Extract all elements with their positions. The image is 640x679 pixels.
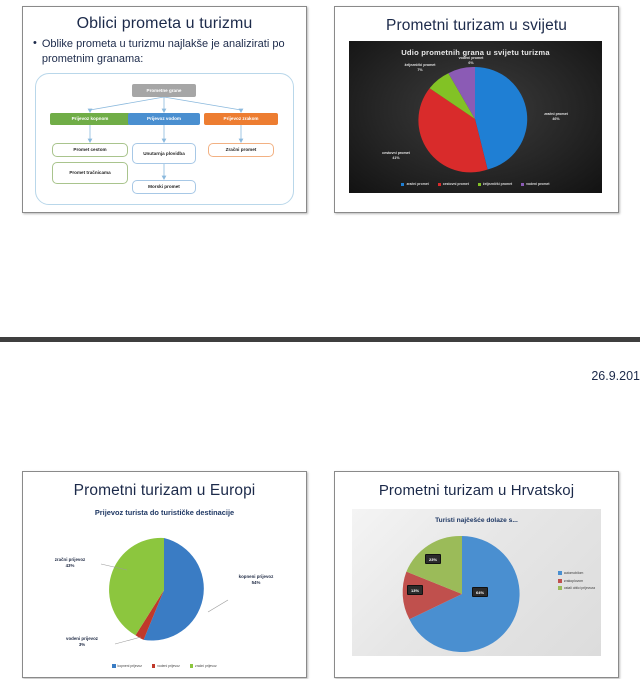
- legend-swatch-icon: [190, 664, 193, 667]
- world-transport-pie-chart: Udio prometnih grana u svijetu turizma z…: [349, 41, 602, 193]
- legend-swatch-icon: [112, 664, 115, 667]
- pie-label-vodeni-prijevoz: vodeni prijevoz 3%: [49, 636, 115, 648]
- transport-branches-diagram: Prometne grane Prijevoz kopnom Prijevoz …: [35, 73, 294, 205]
- chart-legend: zračni promet cestovni promet željezničk…: [349, 182, 602, 186]
- pie-label-cestovni-promet: cestovni promet 41%: [367, 151, 425, 161]
- legend-item: zračni promet: [401, 182, 428, 186]
- pie-label-zracni-prijevoz: zračni prijevoz 43%: [37, 557, 103, 569]
- bullet-text: Oblike prometa u turizmu najlakše je ana…: [42, 37, 298, 67]
- legend-label: ostali oblici prijevoza: [564, 586, 595, 590]
- legend-swatch-icon: [478, 183, 481, 186]
- legend-label: cestovni promet: [443, 182, 469, 186]
- legend-item: željeznički promet: [478, 182, 512, 186]
- legend-item: ostali oblici prijevoza: [558, 586, 595, 590]
- legend-label: željeznički promet: [483, 182, 512, 186]
- chart-legend: automobilom zrakoplovom ostali oblici pr…: [558, 571, 595, 590]
- slide-thumbnail-prometni-turizam-hrvatskoj[interactable]: Prometni turizam u Hrvatskoj Turisti naj…: [334, 471, 619, 678]
- slide-thumbnail-prometni-turizam-europi[interactable]: Prometni turizam u Europi Prijevoz turis…: [22, 471, 307, 678]
- legend-label: zračni prijevoz: [195, 664, 217, 668]
- legend-swatch-icon: [558, 586, 562, 590]
- pie-label-kopneni-prijevoz: kopneni prijevoz 54%: [221, 574, 291, 586]
- legend-label: vodeni prijevoz: [157, 664, 180, 668]
- diagram-node-prijevoz-zrakom: Prijevoz zrakom: [204, 113, 278, 125]
- pie-label-vodeni-promet: vodeni promet 6%: [442, 56, 500, 66]
- slide-title: Prometni turizam u svijetu: [335, 17, 618, 35]
- diagram-node-prijevoz-vodom: Prijevoz vodom: [128, 113, 200, 125]
- legend-label: kopneni prijevoz: [118, 664, 143, 668]
- legend-item: vodeni prijevoz: [152, 664, 180, 668]
- legend-swatch-icon: [401, 183, 404, 186]
- list-item: • Oblike prometa u turizmu najlakše je a…: [33, 37, 298, 67]
- diagram-node-root: Prometne grane: [132, 84, 196, 97]
- legend-label: zrakoplovom: [564, 579, 583, 583]
- legend-swatch-icon: [521, 183, 524, 186]
- legend-label: zračni promet: [406, 182, 428, 186]
- diagram-node-prijevoz-kopnom: Prijevoz kopnom: [50, 113, 130, 125]
- bullet-dot-icon: •: [33, 37, 37, 50]
- legend-item: cestovni promet: [438, 182, 469, 186]
- slide-title: Prometni turizam u Hrvatskoj: [335, 482, 618, 499]
- legend-item: zrakoplovom: [558, 579, 595, 583]
- legend-item: zračni prijevoz: [190, 664, 217, 668]
- pie-label-zracni-promet: zračni promet 46%: [527, 112, 585, 122]
- diagram-node-promet-tracnicama: Promet tračnicama: [52, 162, 128, 184]
- page-date: 26.9.201: [591, 369, 640, 383]
- slide-thumbnail-prometni-turizam-svijetu[interactable]: Prometni turizam u svijetu Udio prometni…: [334, 6, 619, 213]
- slide-thumbnail-oblici-prometa[interactable]: Oblici prometa u turizmu • Oblike promet…: [22, 6, 307, 213]
- legend-label: automobilom: [564, 571, 583, 575]
- croatia-transport-pie-chart: Turisti najčešće dolaze s... 64% 13% 23%…: [352, 509, 601, 656]
- chart-legend: kopneni prijevoz vodeni prijevoz zračni …: [23, 664, 306, 668]
- slides-handout-page: Oblici prometa u turizmu • Oblike promet…: [0, 0, 640, 679]
- diagram-node-zracni-promet: Zračni promet: [208, 143, 274, 157]
- diagram-node-promet-cestom: Promet cestom: [52, 143, 128, 157]
- page-divider: [0, 337, 640, 342]
- legend-label: vodeni promet: [526, 182, 549, 186]
- legend-item: kopneni prijevoz: [112, 664, 142, 668]
- legend-swatch-icon: [558, 579, 562, 583]
- pie-data-label-zrakoplovom: 13%: [407, 585, 423, 595]
- slide-title: Oblici prometa u turizmu: [23, 15, 306, 33]
- slide-bullet-list: • Oblike prometa u turizmu najlakše je a…: [33, 37, 298, 67]
- pie-data-label-automobilom: 64%: [472, 587, 488, 597]
- legend-item: vodeni promet: [521, 182, 549, 186]
- legend-swatch-icon: [152, 664, 155, 667]
- diagram-node-unutarnja-plovidba: Unutarnja plovidba: [132, 143, 196, 164]
- legend-item: automobilom: [558, 571, 595, 575]
- diagram-node-morski-promet: Morski promet: [132, 180, 196, 194]
- legend-swatch-icon: [438, 183, 441, 186]
- pie-data-label-ostali-oblici: 23%: [425, 554, 441, 564]
- europe-transport-pie-chart: kopneni prijevoz 54% zračni prijevoz 43%…: [23, 472, 306, 677]
- legend-swatch-icon: [558, 571, 562, 575]
